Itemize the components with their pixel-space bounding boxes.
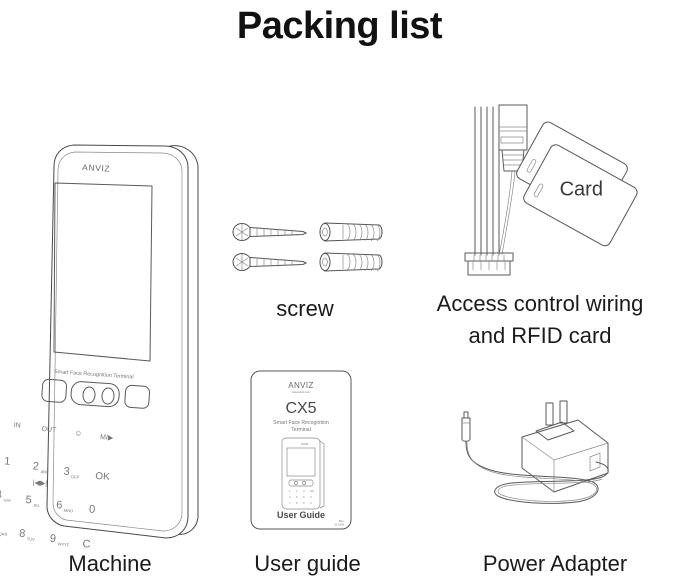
guide-brand-label: ANVIZ — [288, 381, 314, 390]
device-key-c: C — [82, 538, 91, 551]
wiring-harness-and-card-icon: Card — [455, 95, 655, 285]
svg-text:MNO: MNO — [64, 508, 74, 514]
svg-text:PQRS: PQRS — [0, 531, 8, 537]
device-key-6: 6 — [56, 499, 63, 511]
device-key-menu: M/▶ — [100, 434, 114, 442]
svg-text:TUV: TUV — [27, 536, 36, 542]
device-key-2: 2 — [32, 460, 39, 472]
device-key-1: 1 — [4, 455, 11, 467]
guide-footer-label: User Guide — [277, 510, 325, 520]
caption-power-adapter: Power Adapter — [440, 550, 670, 577]
terminal-device-icon: ANVIZ Smart Face Recognition Terminal IN… — [10, 120, 220, 540]
rfid-card-label: Card — [560, 179, 603, 201]
device-key-3: 3 — [63, 466, 70, 478]
item-wiring-rfid: Card — [455, 95, 655, 285]
guide-corner-note-1: Rev. — [339, 519, 344, 523]
item-machine: ANVIZ Smart Face Recognition Terminal IN… — [10, 120, 220, 540]
guide-model-label: CX5 — [285, 400, 316, 417]
device-key-arrows: |◀▶| — [32, 479, 47, 487]
device-key-out: OUT — [41, 426, 57, 434]
device-key-person: ☺ — [74, 428, 83, 438]
svg-text:ANVIZ: ANVIZ — [301, 443, 309, 446]
guide-subtitle-1: Smart Face Recognition — [273, 420, 329, 426]
device-key-4: 4 — [0, 489, 2, 501]
screw-and-anchor-icon — [225, 215, 395, 285]
guide-brand-sub: www.anviz.com — [292, 390, 310, 394]
caption-user-guide: User guide — [225, 550, 390, 577]
device-key-in: IN — [13, 422, 20, 429]
svg-text:WXYZ: WXYZ — [57, 541, 69, 547]
user-guide-booklet-icon: ANVIZ www.anviz.com CX5 Smart Face Recog… — [248, 368, 368, 533]
device-key-8: 8 — [19, 528, 26, 540]
svg-text:DEF: DEF — [71, 474, 80, 480]
device-key-0: 0 — [89, 503, 96, 515]
caption-wiring-line1: Access control wiring — [405, 290, 675, 317]
caption-machine: Machine — [10, 550, 210, 577]
device-brand-label: ANVIZ — [82, 162, 111, 174]
svg-text:OK: OK — [310, 489, 314, 493]
svg-text:C: C — [310, 501, 312, 505]
caption-wiring-line2: and RFID card — [405, 322, 675, 349]
guide-corner-note-2: V1.0 EN — [334, 523, 344, 527]
power-adapter-icon — [450, 395, 650, 515]
guide-subtitle-2: Terminal — [291, 427, 311, 433]
page-title: Packing list — [0, 0, 679, 52]
device-key-9: 9 — [49, 533, 56, 545]
item-power-adapter — [450, 395, 650, 515]
svg-text:JKL: JKL — [33, 503, 41, 509]
device-key-ok: OK — [95, 471, 111, 483]
svg-text:ABC: ABC — [40, 469, 49, 475]
item-screw — [225, 215, 395, 285]
caption-screw: screw — [225, 295, 385, 322]
device-key-5: 5 — [25, 494, 32, 506]
item-user-guide: ANVIZ www.anviz.com CX5 Smart Face Recog… — [248, 368, 368, 533]
svg-text:GHI: GHI — [3, 497, 10, 502]
